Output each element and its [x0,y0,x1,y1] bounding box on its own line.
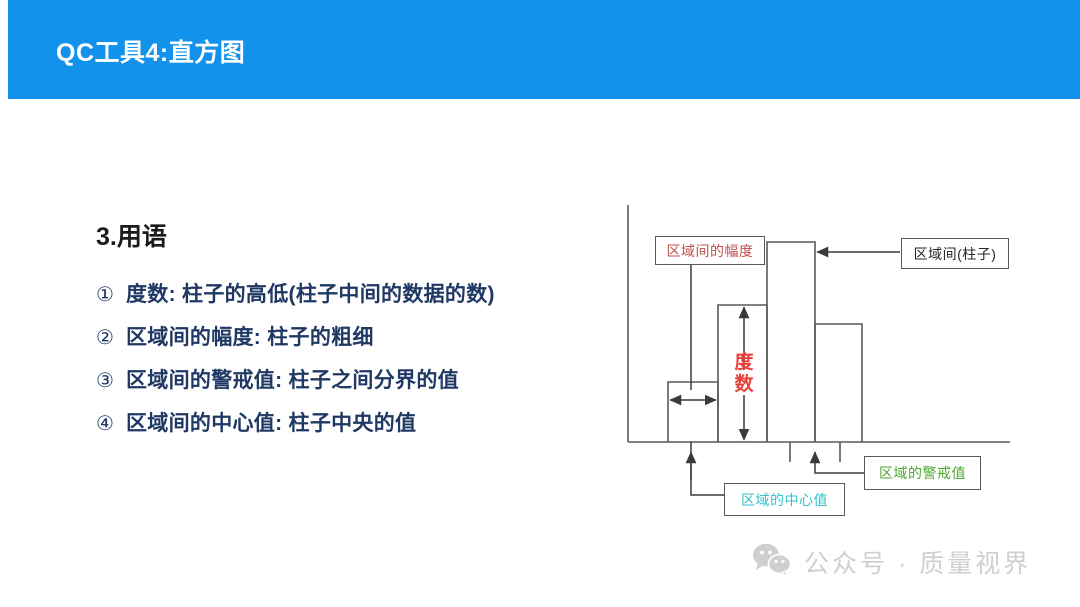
page-title: QC工具4:直方图 [56,33,245,69]
list-item: ③ 区域间的警戒值: 柱子之间分界的值 [96,364,616,394]
list-item: ② 区域间的幅度: 柱子的粗细 [96,321,616,351]
bar-3 [767,242,815,442]
list-item-label: 区域间的中心值: 柱子中央的值 [126,407,416,437]
wechat-icon [752,542,792,581]
list-item-marker: ② [96,325,126,350]
list-item: ① 度数: 柱子的高低(柱子中间的数据的数) [96,278,616,308]
watermark-text: 公众号 · 质量视界 [804,544,1031,580]
list-item-marker: ③ [96,368,126,393]
list-item-marker: ④ [96,411,126,436]
annotation-center-value: 区域的中心值 [724,483,845,516]
list-item-marker: ① [96,282,126,307]
center-leader-line [691,452,724,495]
list-item: ④ 区域间的中心值: 柱子中央的值 [96,407,616,437]
list-item-label: 区域间的警戒值: 柱子之间分界的值 [126,364,459,394]
annotation-bin: 区域间(柱子) [901,238,1009,269]
list-item-label: 度数: 柱子的高低(柱子中间的数据的数) [126,278,495,308]
terms-list: ① 度数: 柱子的高低(柱子中间的数据的数) ② 区域间的幅度: 柱子的粗细 ③… [96,278,616,450]
bar-1 [668,382,718,442]
bar-4 [815,324,862,442]
watermark: 公众号 · 质量视界 [752,542,1031,581]
slide-canvas: QC工具4:直方图 3.用语 ① 度数: 柱子的高低(柱子中间的数据的数) ② … [0,0,1080,607]
annotation-boundary-value: 区域的警戒值 [864,456,981,490]
annotation-bin-width: 区域间的幅度 [655,236,765,265]
list-item-label: 区域间的幅度: 柱子的粗细 [126,321,374,351]
section-heading: 3.用语 [96,217,167,253]
header-banner: QC工具4:直方图 [8,0,1080,99]
annotation-frequency: 度数 [731,352,757,397]
